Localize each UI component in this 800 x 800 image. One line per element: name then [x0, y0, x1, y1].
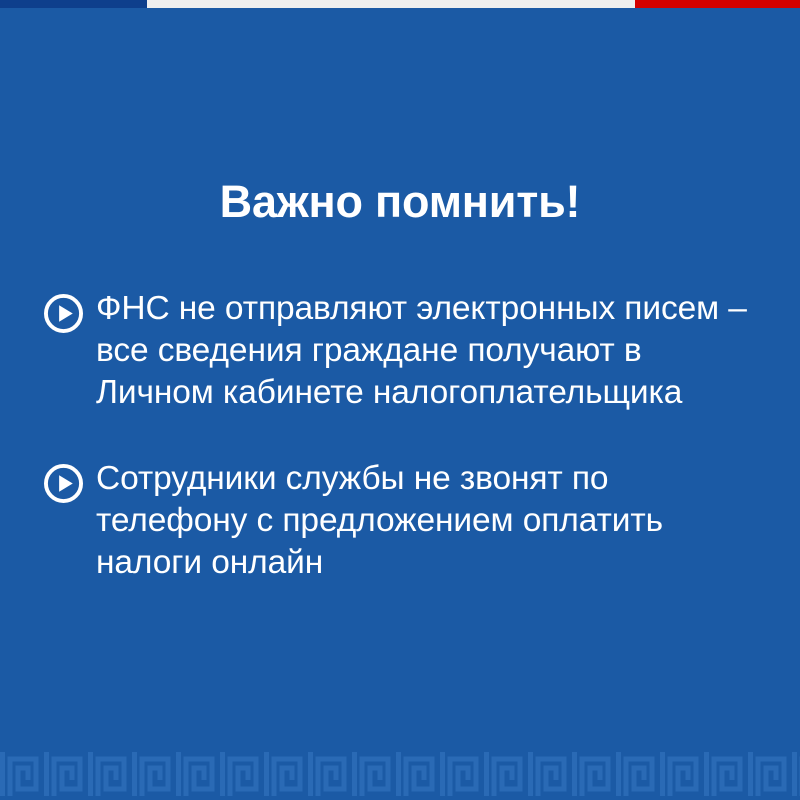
bullet-list: ФНС не отправляют электронных писем – вс…: [44, 288, 756, 584]
play-circle-icon: [44, 294, 83, 333]
list-item-label: Сотрудники службы не звонят по телефону …: [96, 458, 756, 584]
flag-segment-blue: [0, 0, 147, 8]
page-title: Важно помнить!: [0, 178, 800, 227]
flag-segment-red: [635, 0, 800, 8]
russian-flag-bar: [0, 0, 800, 8]
list-item: Сотрудники службы не звонят по телефону …: [44, 458, 756, 584]
list-item-label: ФНС не отправляют электронных писем – вс…: [96, 288, 756, 414]
list-item: ФНС не отправляют электронных писем – вс…: [44, 288, 756, 414]
play-circle-icon: [44, 464, 83, 503]
flag-segment-white: [147, 0, 635, 8]
poster-canvas: Важно помнить! ФНС не отправляют электро…: [0, 0, 800, 800]
greek-key-meander-pattern: [0, 748, 800, 800]
